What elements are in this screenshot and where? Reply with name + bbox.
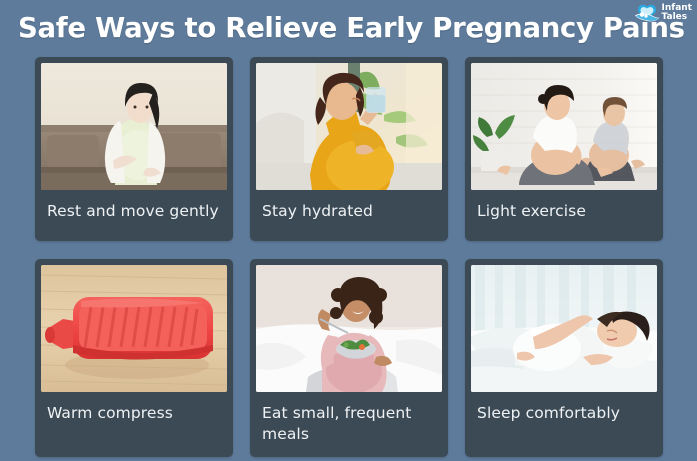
- tip-card-rest-and-move-gently[interactable]: Rest and move gently: [35, 57, 233, 241]
- infographic-page: Safe Ways to Relieve Early Pregnancy Pai…: [0, 0, 697, 461]
- header: Safe Ways to Relieve Early Pregnancy Pai…: [0, 0, 697, 52]
- brand-logo[interactable]: Infant Tales: [634, 2, 692, 24]
- brand-line-2: Tales: [662, 13, 692, 22]
- tip-card-sleep-comfortably[interactable]: Sleep comfortably: [465, 259, 663, 457]
- tip-caption: Warm compress: [41, 392, 227, 424]
- pregnant-woman-eating-salad-photo: [256, 265, 442, 392]
- tip-caption: Eat small, frequent meals: [256, 392, 442, 444]
- tip-card-eat-small-frequent-meals[interactable]: Eat small, frequent meals: [250, 259, 448, 457]
- tip-caption: Sleep comfortably: [471, 392, 657, 424]
- tip-caption: Rest and move gently: [41, 190, 227, 222]
- tip-card-warm-compress[interactable]: Warm compress: [35, 259, 233, 457]
- red-hot-water-bottle-photo: [41, 265, 227, 392]
- tips-grid: Rest and move gently: [35, 57, 665, 457]
- tip-card-stay-hydrated[interactable]: Stay hydrated: [250, 57, 448, 241]
- page-title: Safe Ways to Relieve Early Pregnancy Pai…: [18, 15, 685, 43]
- tip-card-light-exercise[interactable]: Light exercise: [465, 57, 663, 241]
- pregnant-woman-sleeping-photo: [471, 265, 657, 392]
- pregnant-woman-resting-on-couch-photo: [41, 63, 227, 190]
- brand-wordmark: Infant Tales: [662, 4, 692, 22]
- tip-caption: Stay hydrated: [256, 190, 442, 222]
- tip-caption: Light exercise: [471, 190, 657, 222]
- pregnant-woman-drinking-water-photo: [256, 63, 442, 190]
- pregnant-women-doing-yoga-photo: [471, 63, 657, 190]
- hands-holding-heart-icon: [634, 2, 660, 24]
